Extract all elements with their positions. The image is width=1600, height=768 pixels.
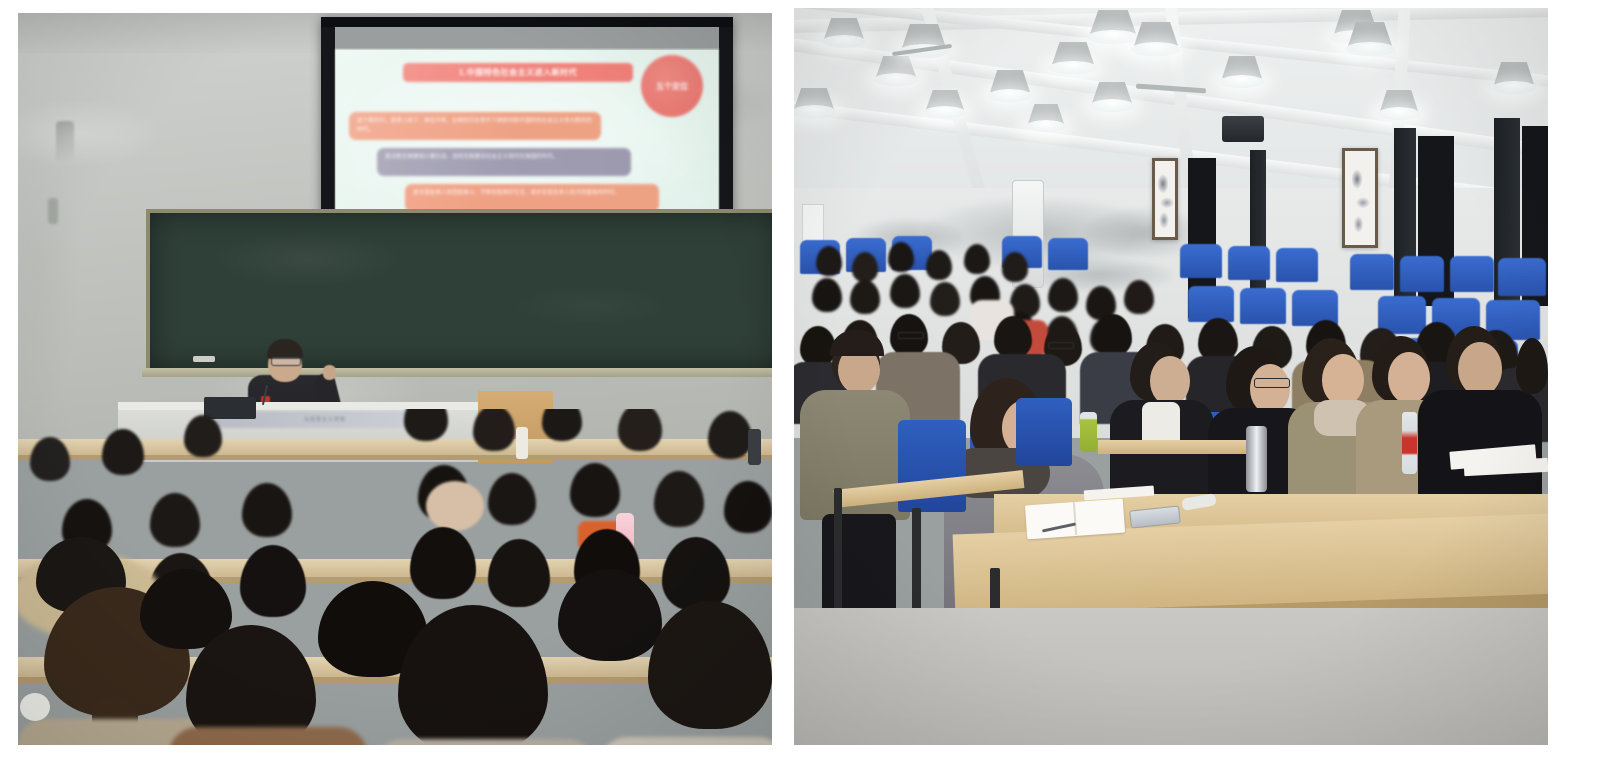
pendant-lamp-icon bbox=[794, 88, 834, 118]
ink-painting-art bbox=[1155, 161, 1175, 237]
pendant-lamp-icon bbox=[1134, 22, 1178, 56]
left-photo-panel: 1.中国特色社会主义进入新时代 五个定位 这个新时代，是承上启下、继往开来、在新… bbox=[18, 13, 772, 745]
student-head bbox=[648, 601, 772, 729]
pendant-lamp-icon bbox=[1028, 104, 1064, 132]
attendee-head bbox=[852, 252, 878, 282]
framed-ink-painting-left bbox=[1152, 158, 1178, 240]
attendee-head bbox=[926, 250, 952, 280]
auditorium-seat bbox=[1016, 398, 1072, 466]
attendee-head bbox=[1002, 252, 1028, 282]
light-coat bbox=[370, 739, 600, 745]
foreground-students bbox=[18, 529, 772, 745]
student-head bbox=[542, 409, 582, 441]
pendant-lamp-icon bbox=[1222, 56, 1262, 88]
dark-bottle bbox=[748, 429, 761, 465]
white-bottle bbox=[516, 427, 528, 459]
pendant-lamp-icon bbox=[876, 56, 916, 86]
student-head bbox=[558, 569, 662, 661]
front-attendee-face bbox=[1150, 356, 1190, 406]
attendee-head bbox=[816, 246, 842, 276]
front-attendee-face bbox=[1388, 352, 1430, 404]
front-attendee-hair bbox=[830, 330, 884, 356]
front-attendee-head bbox=[1516, 338, 1548, 394]
glasses-icon bbox=[1254, 378, 1290, 388]
pendant-lamp-icon bbox=[1494, 62, 1534, 94]
grey-coat bbox=[598, 737, 772, 745]
left-audience bbox=[18, 409, 772, 745]
front-attendee-face bbox=[1322, 354, 1364, 406]
wall-speaker-icon bbox=[1222, 116, 1264, 142]
right-photo-panel bbox=[794, 8, 1548, 745]
lecturer-hand bbox=[323, 365, 336, 380]
pendant-lamp-icon bbox=[1348, 22, 1392, 56]
student-head bbox=[618, 409, 662, 451]
floor bbox=[794, 608, 1548, 745]
pendant-lamp-icon bbox=[1052, 42, 1094, 74]
front-attendee-face bbox=[1250, 364, 1290, 414]
rust-coat bbox=[168, 727, 368, 745]
green-water-bottle bbox=[1080, 412, 1097, 452]
pendant-lamp-icon bbox=[1092, 82, 1132, 112]
pendant-lamp-icon bbox=[1380, 90, 1418, 120]
student-head bbox=[404, 409, 448, 441]
attendee-head bbox=[964, 244, 990, 274]
pendant-lamp-icon bbox=[1090, 10, 1136, 44]
red-label-water-bottle bbox=[1402, 412, 1417, 474]
glasses-icon bbox=[271, 357, 301, 366]
pendant-lamp-icon bbox=[824, 18, 864, 48]
pendant-lamp-icon bbox=[926, 90, 964, 118]
attendee-head bbox=[888, 242, 914, 272]
pendant-lamp-icon bbox=[990, 70, 1030, 102]
student-head bbox=[473, 409, 515, 451]
white-mug bbox=[20, 693, 50, 721]
silver-thermos bbox=[1246, 426, 1267, 492]
photo-composite: 1.中国特色社会主义进入新时代 五个定位 这个新时代，是承上启下、继往开来、在新… bbox=[0, 0, 1600, 768]
lecturer-hair bbox=[267, 339, 303, 359]
desk-row-mid bbox=[1098, 440, 1258, 454]
front-attendee-face bbox=[1458, 342, 1502, 396]
